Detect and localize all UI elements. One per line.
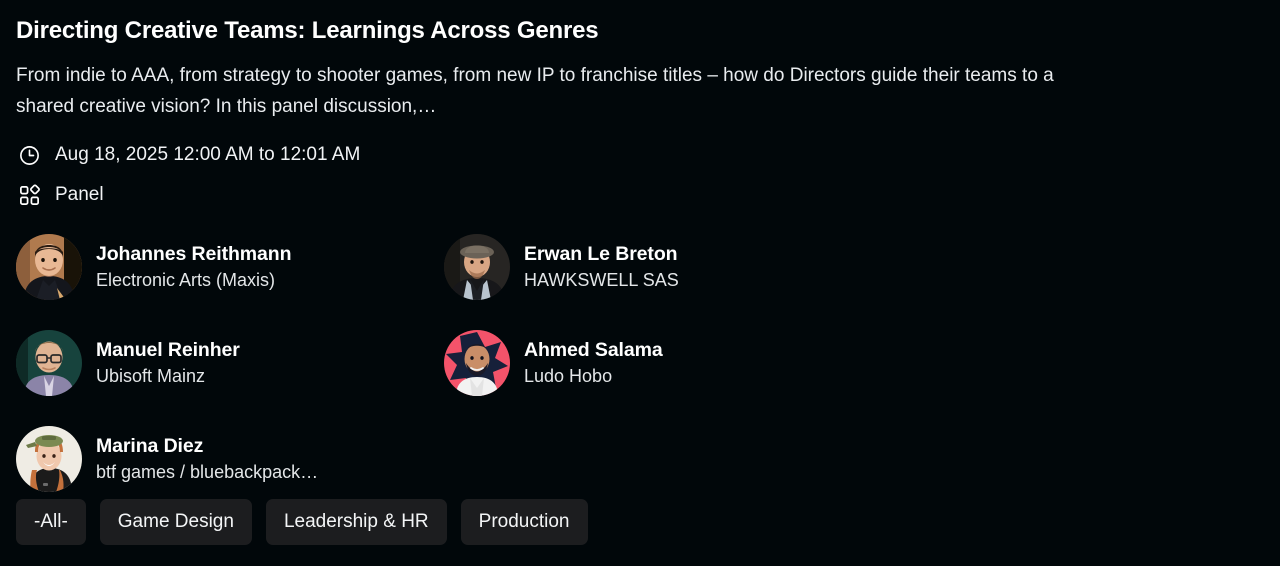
avatar <box>444 234 510 300</box>
speaker-name: Johannes Reithmann <box>96 242 291 267</box>
event-title: Directing Creative Teams: Learnings Acro… <box>16 16 1264 46</box>
speaker-name: Ahmed Salama <box>524 338 663 363</box>
speaker-name: Marina Diez <box>96 434 318 459</box>
event-description: From indie to AAA, from strategy to shoo… <box>16 60 1056 122</box>
speaker-item[interactable]: Marina Diez btf games / bluebackpack… <box>16 426 444 492</box>
clock-icon <box>16 142 42 168</box>
speaker-name: Erwan Le Breton <box>524 242 679 267</box>
tag-filter-list: -All- Game Design Leadership & HR Produc… <box>16 499 588 545</box>
speaker-org: Ludo Hobo <box>524 364 663 388</box>
tag-leadership-hr[interactable]: Leadership & HR <box>266 499 447 545</box>
category-grid-icon <box>16 182 42 208</box>
speaker-info: Erwan Le Breton HAWKSWELL SAS <box>524 242 679 292</box>
speaker-info: Johannes Reithmann Electronic Arts (Maxi… <box>96 242 291 292</box>
speaker-item[interactable]: Manuel Reinher Ubisoft Mainz <box>16 330 444 396</box>
event-schedule-row: Aug 18, 2025 12:00 AM to 12:01 AM <box>16 142 1264 168</box>
avatar <box>16 330 82 396</box>
event-schedule-text: Aug 18, 2025 12:00 AM to 12:01 AM <box>55 143 360 167</box>
speaker-org: btf games / bluebackpack… <box>96 460 318 484</box>
speaker-org: Ubisoft Mainz <box>96 364 240 388</box>
tag-all[interactable]: -All- <box>16 499 86 545</box>
speaker-info: Marina Diez btf games / bluebackpack… <box>96 434 318 484</box>
speaker-item[interactable]: Johannes Reithmann Electronic Arts (Maxi… <box>16 234 444 300</box>
tag-game-design[interactable]: Game Design <box>100 499 252 545</box>
speaker-info: Ahmed Salama Ludo Hobo <box>524 338 663 388</box>
avatar <box>16 426 82 492</box>
speaker-item[interactable]: Erwan Le Breton HAWKSWELL SAS <box>444 234 872 300</box>
speaker-name: Manuel Reinher <box>96 338 240 363</box>
event-format-row: Panel <box>16 182 1264 208</box>
speaker-org: HAWKSWELL SAS <box>524 268 679 292</box>
avatar <box>16 234 82 300</box>
tag-production[interactable]: Production <box>461 499 588 545</box>
speaker-info: Manuel Reinher Ubisoft Mainz <box>96 338 240 388</box>
speaker-org: Electronic Arts (Maxis) <box>96 268 291 292</box>
event-card: Directing Creative Teams: Learnings Acro… <box>0 0 1280 566</box>
speaker-item[interactable]: Ahmed Salama Ludo Hobo <box>444 330 872 396</box>
speaker-list: Johannes Reithmann Electronic Arts (Maxi… <box>16 234 1264 492</box>
avatar <box>444 330 510 396</box>
event-meta: Aug 18, 2025 12:00 AM to 12:01 AM Panel <box>16 142 1264 208</box>
event-format-text: Panel <box>55 183 104 207</box>
